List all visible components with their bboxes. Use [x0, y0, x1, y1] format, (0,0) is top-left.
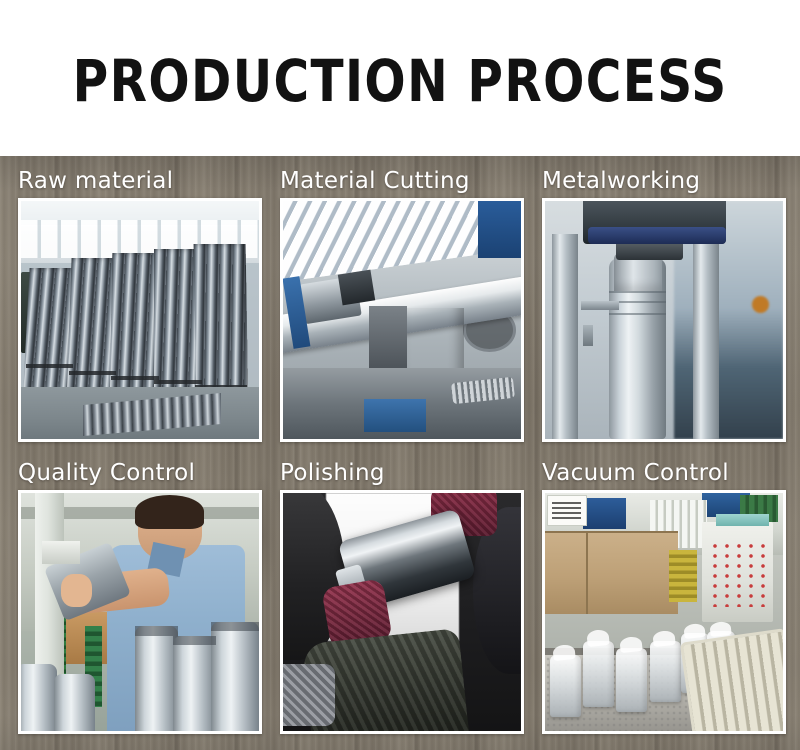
material-cutting-photo — [283, 201, 521, 439]
step-label-quality-control: Quality Control — [18, 458, 266, 490]
process-step-material-cutting[interactable]: Material Cutting — [280, 166, 528, 442]
process-step-vacuum-control[interactable]: Vacuum Control — [542, 458, 790, 734]
production-process-infographic: PRODUCTION PROCESS Raw material — [0, 0, 800, 750]
step-photo-card-metalworking[interactable] — [542, 198, 786, 442]
process-step-raw-material[interactable]: Raw material — [18, 166, 266, 442]
step-photo-card-polishing[interactable] — [280, 490, 524, 734]
step-label-raw-material: Raw material — [18, 166, 266, 198]
process-steps-grid: Raw material Material Cutting — [0, 156, 800, 750]
page-title: PRODUCTION PROCESS — [73, 52, 728, 110]
vacuum-control-photo — [545, 493, 783, 731]
step-label-metalworking: Metalworking — [542, 166, 790, 198]
step-label-material-cutting: Material Cutting — [280, 166, 528, 198]
process-step-metalworking[interactable]: Metalworking — [542, 166, 790, 442]
title-banner: PRODUCTION PROCESS — [0, 0, 800, 156]
step-photo-card-material-cutting[interactable] — [280, 198, 524, 442]
quality-control-photo — [21, 493, 259, 731]
process-step-polishing[interactable]: Polishing — [280, 458, 528, 734]
step-label-polishing: Polishing — [280, 458, 528, 490]
raw-material-photo — [21, 201, 259, 439]
process-step-quality-control[interactable]: Quality Control — [18, 458, 266, 734]
step-photo-card-vacuum-control[interactable] — [542, 490, 786, 734]
step-label-vacuum-control: Vacuum Control — [542, 458, 790, 490]
polishing-photo — [283, 493, 521, 731]
step-photo-card-raw-material[interactable] — [18, 198, 262, 442]
step-photo-card-quality-control[interactable] — [18, 490, 262, 734]
metalworking-photo — [545, 201, 783, 439]
